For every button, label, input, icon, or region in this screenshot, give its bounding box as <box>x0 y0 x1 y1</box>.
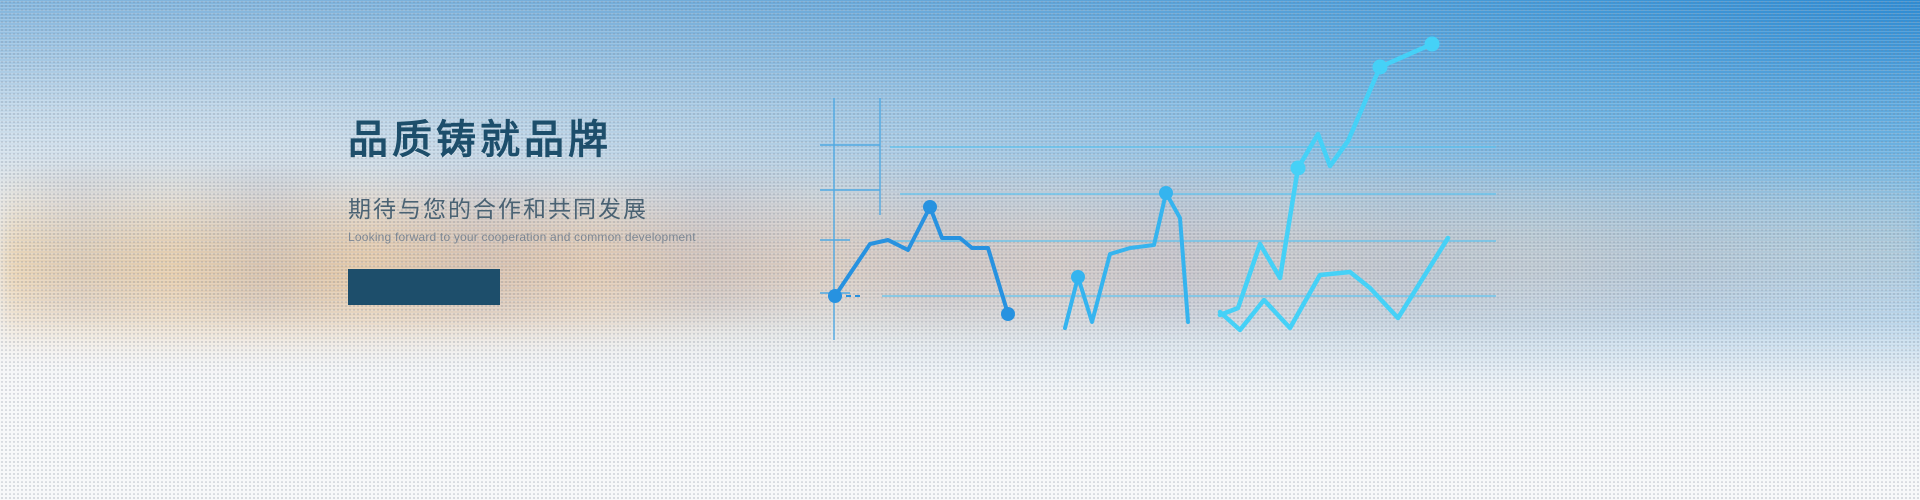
chart-gridlines <box>880 147 1496 296</box>
series-2 <box>1065 186 1188 328</box>
chart-axis <box>820 98 880 340</box>
data-point-marker <box>828 289 842 303</box>
line-chart: 100000 80000 60000 40000 <box>820 0 1920 500</box>
cta-button[interactable] <box>348 269 500 305</box>
data-point-marker <box>923 200 937 214</box>
copy-block: 品质铸就品牌 期待与您的合作和共同发展 Looking forward to y… <box>348 120 768 305</box>
page-title: 品质铸就品牌 <box>348 120 768 160</box>
series-1 <box>828 200 1015 321</box>
subtitle: 期待与您的合作和共同发展 <box>348 198 768 221</box>
chart-svg: 100000 80000 60000 40000 <box>820 0 1920 500</box>
subtitle-english: Looking forward to your cooperation and … <box>348 231 768 243</box>
data-point-marker <box>1425 37 1440 52</box>
data-point-marker <box>1071 270 1085 284</box>
hero-banner: 品质铸就品牌 期待与您的合作和共同发展 Looking forward to y… <box>0 0 1920 500</box>
data-point-marker <box>1291 161 1306 176</box>
series-4 <box>1220 238 1448 330</box>
data-point-marker <box>1373 60 1388 75</box>
data-point-marker <box>1001 307 1015 321</box>
data-point-marker <box>1159 186 1173 200</box>
